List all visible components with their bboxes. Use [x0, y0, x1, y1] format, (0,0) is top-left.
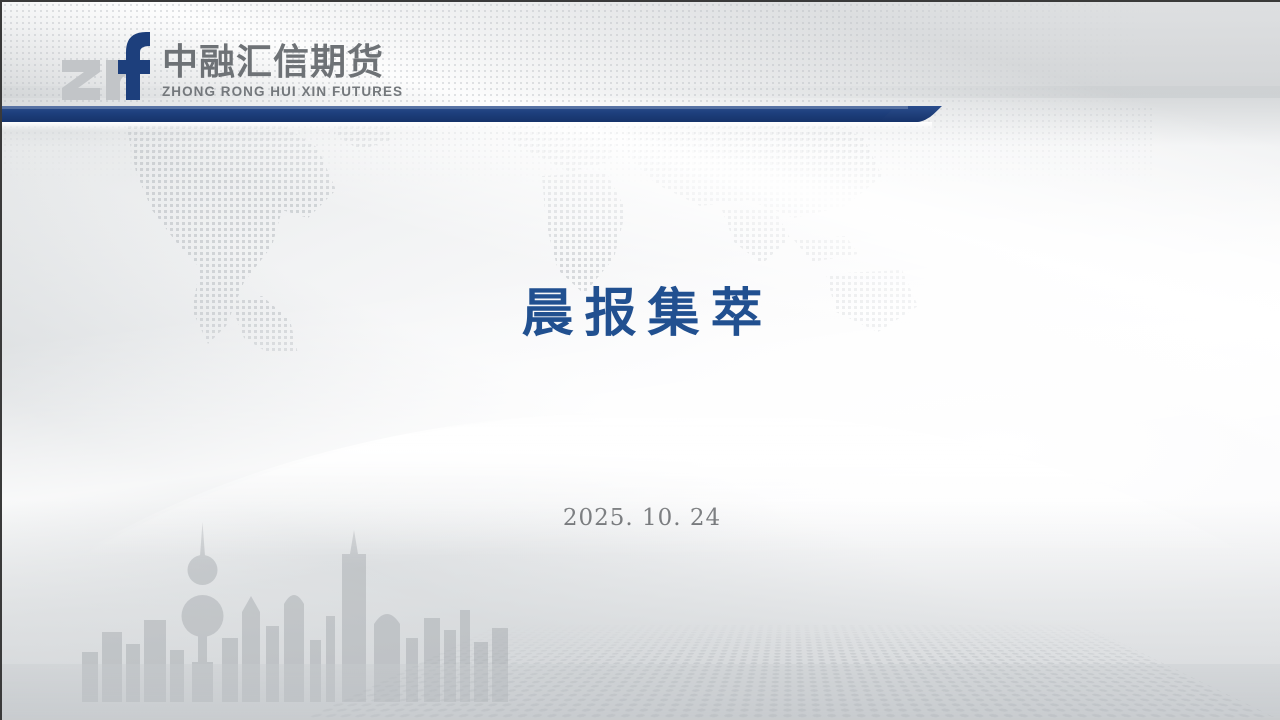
slide-title: 晨报集萃 — [2, 284, 1280, 344]
company-logo: 中融汇信期货 ZHONG RONG HUI XIN FUTURES — [60, 28, 403, 102]
logo-company-name-en: ZHONG RONG HUI XIN FUTURES — [162, 84, 403, 100]
logo-company-name-cn: 中融汇信期货 — [162, 43, 384, 83]
header-accent-bar-highlight — [2, 106, 908, 109]
shanghai-skyline-icon — [80, 512, 510, 702]
title-slide: 中融汇信期货 ZHONG RONG HUI XIN FUTURES 晨报集萃 2… — [0, 0, 1280, 720]
header-white-underline — [2, 122, 932, 131]
logo-wordmark: 中融汇信期货 ZHONG RONG HUI XIN FUTURES — [162, 43, 403, 102]
zrf-monogram-icon — [60, 30, 152, 102]
